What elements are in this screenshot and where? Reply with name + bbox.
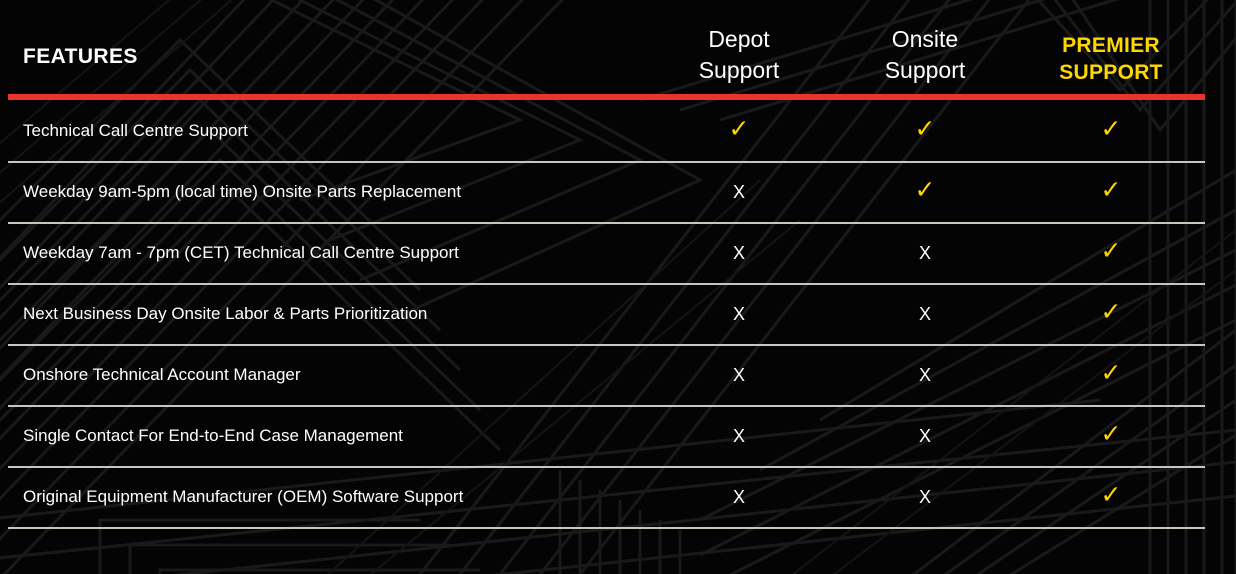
table-row: Weekday 9am-5pm (local time) Onsite Part… [0,161,1236,222]
check-icon: ✓ [1101,361,1122,386]
feature-label: Next Business Day Onsite Labor & Parts P… [23,283,427,344]
table-row: Next Business Day Onsite Labor & Parts P… [0,283,1236,344]
column-header-premier-line2: SUPPORT [1011,59,1211,86]
cell-onsite: ✓ [845,161,1005,222]
column-header-depot-line1: Depot [708,26,769,52]
check-icon: ✓ [915,117,936,142]
table-row: Single Contact For End-to-End Case Manag… [0,405,1236,466]
features-heading: FEATURES [23,46,138,67]
check-icon: ✓ [1101,300,1122,325]
cell-depot: X [659,466,819,527]
feature-label: Original Equipment Manufacturer (OEM) So… [23,466,463,527]
table-header: FEATURES Depot Support Onsite Support PR… [0,0,1236,96]
cross-icon: X [919,366,931,384]
cell-onsite: ✓ [845,100,1005,161]
cell-depot: X [659,283,819,344]
check-icon: ✓ [1101,239,1122,264]
feature-label: Onshore Technical Account Manager [23,344,301,405]
cell-onsite: X [845,283,1005,344]
cell-premier: ✓ [1031,161,1191,222]
column-header-depot: Depot Support [639,24,839,86]
cell-onsite: X [845,405,1005,466]
cross-icon: X [733,427,745,445]
cross-icon: X [733,305,745,323]
cell-premier: ✓ [1031,344,1191,405]
cell-premier: ✓ [1031,100,1191,161]
cross-icon: X [733,488,745,506]
check-icon: ✓ [915,178,936,203]
column-header-onsite-line2: Support [825,55,1025,86]
feature-label: Single Contact For End-to-End Case Manag… [23,405,403,466]
cross-icon: X [733,366,745,384]
feature-table-body: Technical Call Centre Support✓✓✓Weekday … [0,100,1236,527]
cross-icon: X [919,427,931,445]
cell-depot: X [659,344,819,405]
cell-onsite: X [845,466,1005,527]
cell-depot: X [659,161,819,222]
check-icon: ✓ [1101,483,1122,508]
column-header-premier: PREMIER SUPPORT [1011,32,1211,86]
cell-premier: ✓ [1031,466,1191,527]
column-header-premier-line1: PREMIER [1062,34,1160,57]
feature-label: Weekday 7am - 7pm (CET) Technical Call C… [23,222,459,283]
cell-onsite: X [845,344,1005,405]
cell-depot: X [659,222,819,283]
cross-icon: X [919,488,931,506]
feature-label: Technical Call Centre Support [23,100,248,161]
header-accent-rule [8,94,1205,100]
cell-premier: ✓ [1031,222,1191,283]
feature-label: Weekday 9am-5pm (local time) Onsite Part… [23,161,461,222]
column-header-onsite-line1: Onsite [892,26,958,52]
table-row: Weekday 7am - 7pm (CET) Technical Call C… [0,222,1236,283]
cell-premier: ✓ [1031,405,1191,466]
check-icon: ✓ [729,117,750,142]
column-header-depot-line2: Support [639,55,839,86]
check-icon: ✓ [1101,117,1122,142]
cross-icon: X [919,305,931,323]
comparison-table-page: FEATURES Depot Support Onsite Support PR… [0,0,1236,574]
table-row: Onshore Technical Account ManagerXX✓ [0,344,1236,405]
check-icon: ✓ [1101,178,1122,203]
table-row: Technical Call Centre Support✓✓✓ [0,100,1236,161]
cross-icon: X [733,183,745,201]
cell-depot: ✓ [659,100,819,161]
column-header-onsite: Onsite Support [825,24,1025,86]
table-row: Original Equipment Manufacturer (OEM) So… [0,466,1236,527]
cell-onsite: X [845,222,1005,283]
check-icon: ✓ [1101,422,1122,447]
row-divider [8,527,1205,529]
cross-icon: X [919,244,931,262]
cross-icon: X [733,244,745,262]
cell-premier: ✓ [1031,283,1191,344]
cell-depot: X [659,405,819,466]
